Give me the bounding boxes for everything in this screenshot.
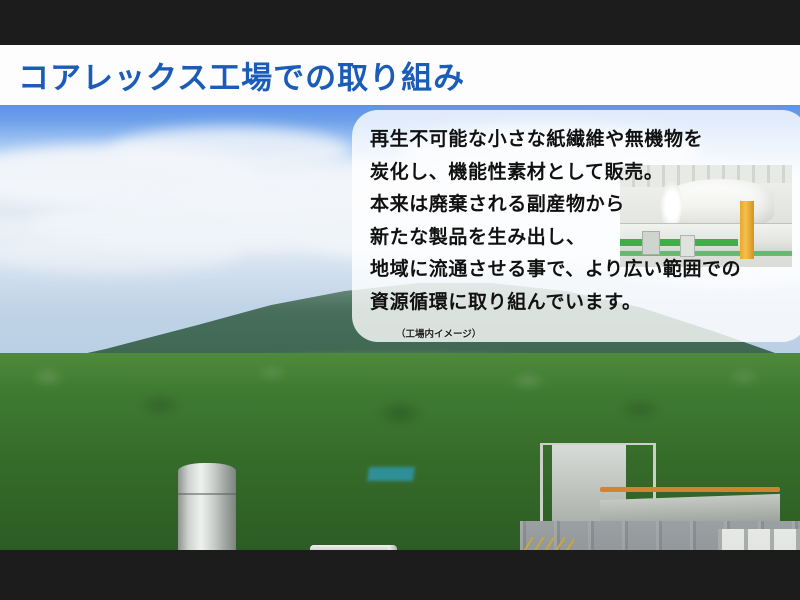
callout-body-text: 再生不可能な小さな紙繊維や無機物を 炭化し、機能性素材として販売。 本来は廃棄さ… <box>370 123 790 318</box>
silo-tank <box>178 463 236 550</box>
letterbox-top <box>0 0 800 45</box>
distant-roof <box>367 467 415 481</box>
inset-image-caption: （工場内イメージ） <box>396 326 481 340</box>
slide-root: コアレックス工場での取り組み <box>0 0 800 600</box>
letterbox-bottom <box>0 550 800 600</box>
description-callout: （工場内イメージ） 再生不可能な小さな紙繊維や無機物を 炭化し、機能性素材として… <box>352 110 800 342</box>
building-ribs <box>718 529 800 550</box>
secondary-building <box>718 529 800 550</box>
page-title: コアレックス工場での取り組み <box>18 53 465 98</box>
exterior-stairs <box>524 537 574 550</box>
title-band: コアレックス工場での取り組み <box>0 45 800 105</box>
orange-handrail <box>600 487 780 492</box>
